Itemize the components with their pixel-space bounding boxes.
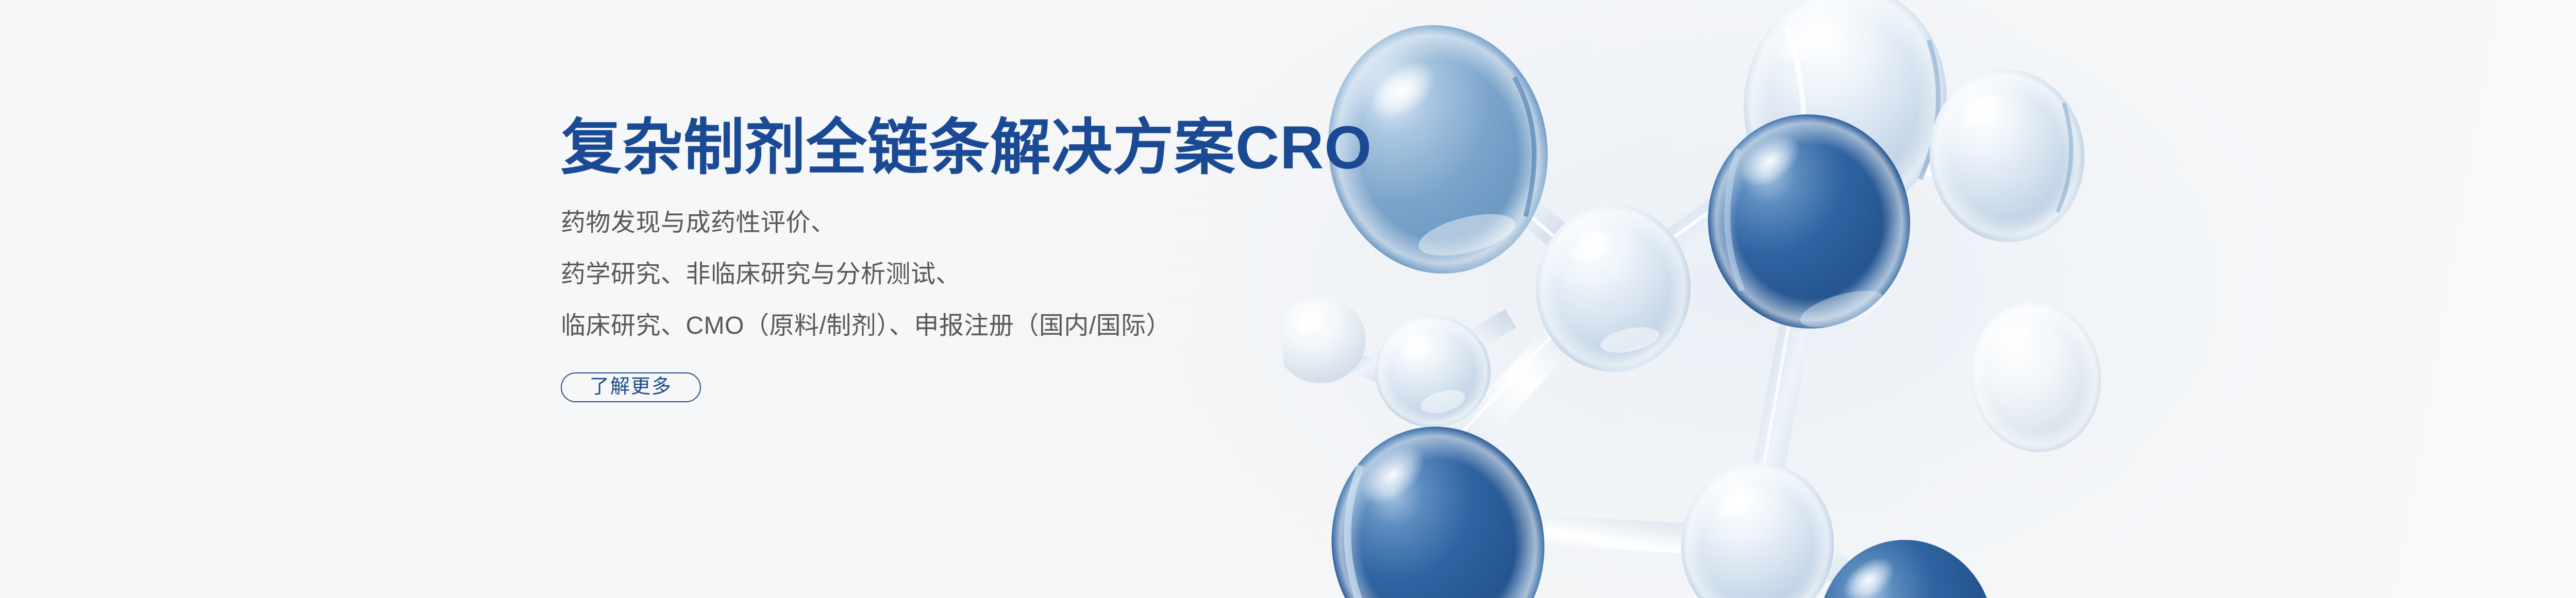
- hero-subcopy: 药物发现与成药性评价、 药学研究、非临床研究与分析测试、 临床研究、CMO（原料…: [561, 184, 1365, 338]
- page-title: 复杂制剂全链条解决方案CRO: [561, 112, 1365, 184]
- subcopy-line-3: 临床研究、CMO（原料/制剂）、申报注册（国内/国际）: [561, 314, 1365, 338]
- subcopy-line-2: 药学研究、非临床研究与分析测试、: [561, 262, 1365, 287]
- subcopy-line-1: 药物发现与成药性评价、: [561, 211, 1365, 235]
- hero-banner: 复杂制剂全链条解决方案CRO 药物发现与成药性评价、 药学研究、非临床研究与分析…: [0, 0, 2576, 598]
- hero-text-column: 复杂制剂全链条解决方案CRO 药物发现与成药性评价、 药学研究、非临床研究与分析…: [561, 112, 1365, 402]
- learn-more-button[interactable]: 了解更多: [561, 372, 701, 402]
- cta-wrapper: 了解更多: [561, 338, 1365, 402]
